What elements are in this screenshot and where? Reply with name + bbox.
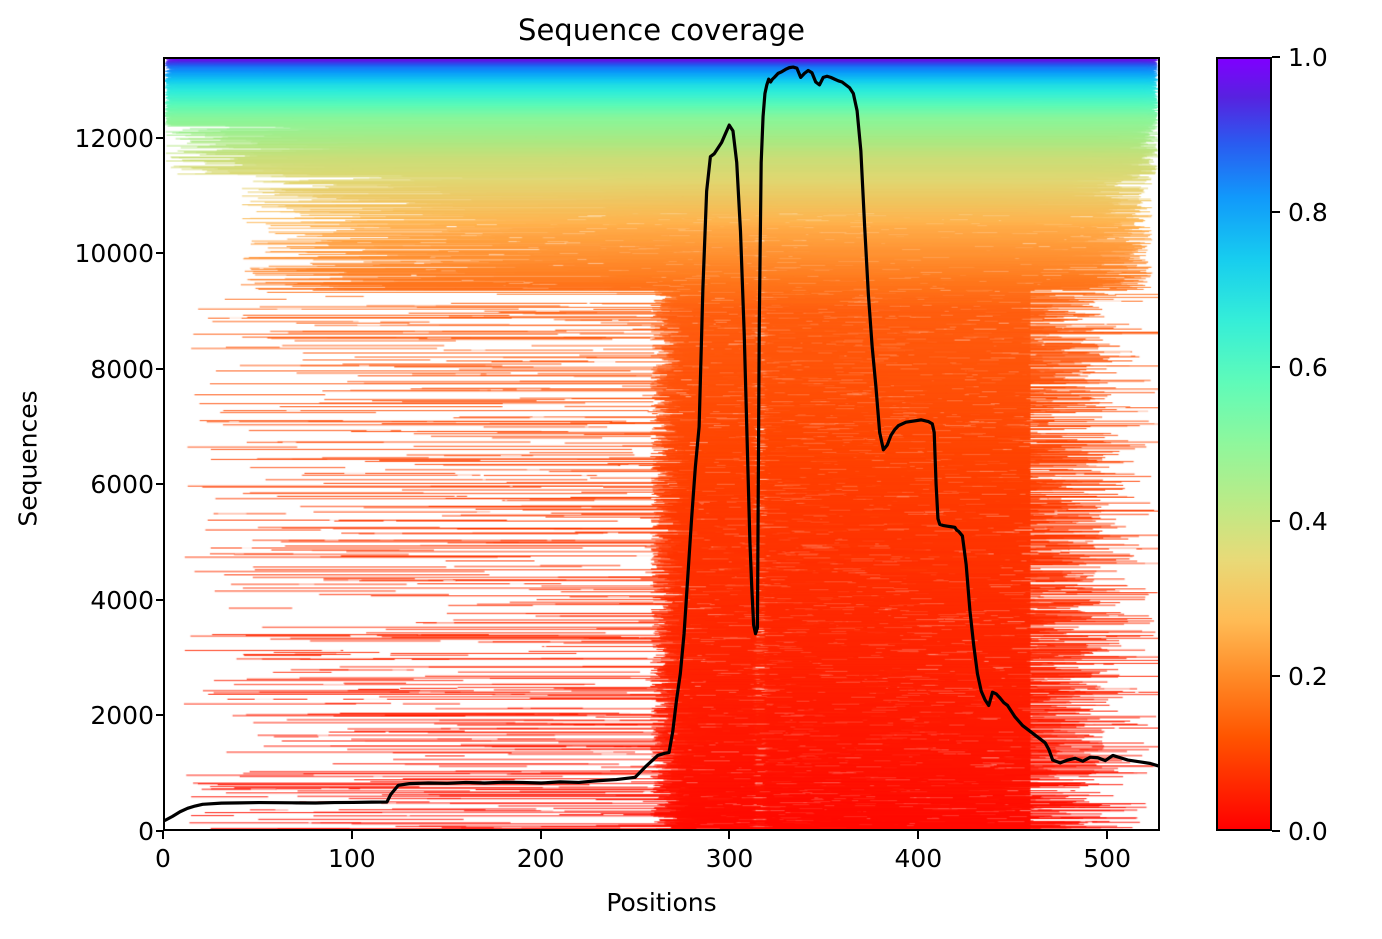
x-tick-mark	[540, 831, 542, 839]
colorbar-tick-mark	[1272, 675, 1280, 677]
colorbar-tick-mark	[1272, 520, 1280, 522]
x-tick-label: 0	[103, 845, 223, 873]
y-tick-label: 8000	[90, 357, 154, 382]
colorbar-tick-label: 0.8	[1288, 200, 1328, 225]
colorbar-tick-mark	[1272, 366, 1280, 368]
page-title: Sequence coverage	[163, 13, 1160, 47]
colorbar-tick-label: 1.0	[1288, 45, 1328, 70]
plot-area[interactable]	[163, 57, 1160, 831]
colorbar-tick-mark	[1272, 830, 1280, 832]
y-tick-label: 12000	[74, 126, 154, 151]
x-tick-mark	[351, 831, 353, 839]
x-tick-label: 100	[292, 845, 412, 873]
x-axis-label: Positions	[163, 888, 1160, 917]
x-tick-label: 300	[669, 845, 789, 873]
y-tick-label: 0	[138, 819, 154, 844]
x-tick-label: 500	[1047, 845, 1167, 873]
colorbar-tick-label: 0.0	[1288, 819, 1328, 844]
colorbar-tick-label: 0.2	[1288, 664, 1328, 689]
x-tick-mark	[1106, 831, 1108, 839]
x-tick-label: 400	[858, 845, 978, 873]
colorbar-gradient	[1216, 57, 1272, 831]
colorbar-tick-label: 0.6	[1288, 355, 1328, 380]
y-tick-label: 10000	[74, 241, 154, 266]
y-axis-label: Sequences	[14, 384, 43, 534]
colorbar-tick-mark	[1272, 211, 1280, 213]
alignment-heatmap	[165, 59, 1158, 829]
x-tick-mark	[728, 831, 730, 839]
colorbar-tick-label: 0.4	[1288, 509, 1328, 534]
x-tick-mark	[162, 831, 164, 839]
y-tick-label: 4000	[90, 588, 154, 613]
colorbar[interactable]	[1216, 57, 1272, 831]
x-tick-label: 200	[481, 845, 601, 873]
y-tick-label: 6000	[90, 472, 154, 497]
y-tick-label: 2000	[90, 703, 154, 728]
figure-root: Sequence coverage 0200040006000800010000…	[0, 0, 1382, 939]
x-tick-mark	[917, 831, 919, 839]
colorbar-tick-mark	[1272, 56, 1280, 58]
